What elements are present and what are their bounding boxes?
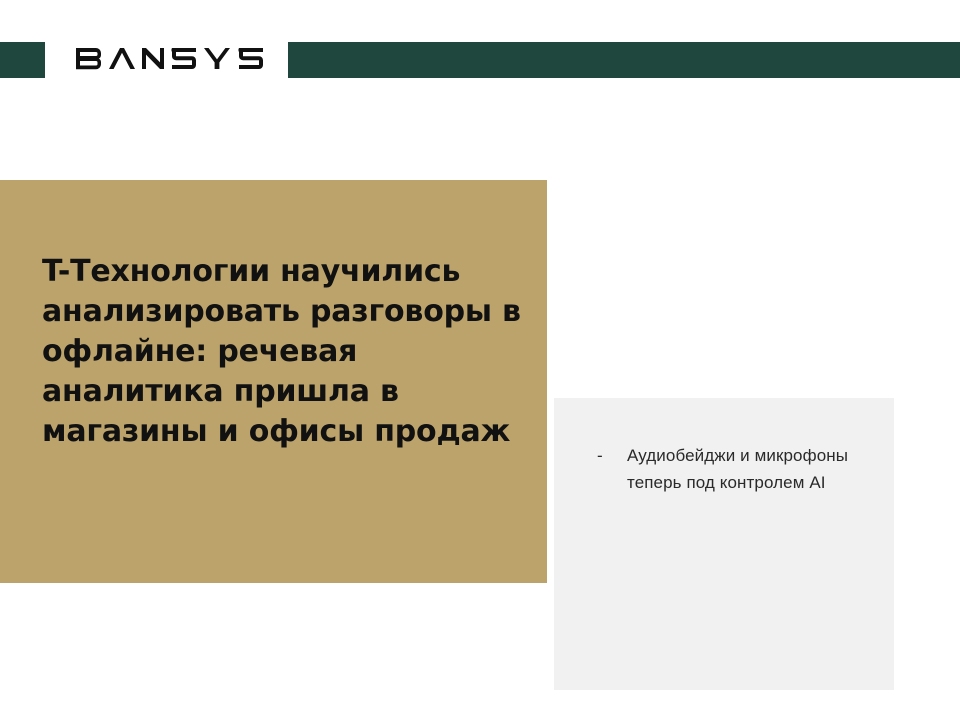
callout-bullet-list: - Аудиобейджи и микрофоны теперь под кон… <box>597 442 867 496</box>
bullet-dash-icon: - <box>597 442 613 469</box>
list-item: - Аудиобейджи и микрофоны теперь под кон… <box>597 442 867 496</box>
bansys-wordmark-icon <box>76 47 266 75</box>
slide-canvas: T-Технологии научились анализировать раз… <box>0 0 960 720</box>
header-band-left-block <box>0 42 45 78</box>
bullet-text: Аудиобейджи и микрофоны теперь под контр… <box>627 442 867 496</box>
slide-headline: T-Технологии научились анализировать раз… <box>42 252 532 452</box>
bansys-logo <box>76 45 266 77</box>
header-band-right-block <box>288 42 960 78</box>
